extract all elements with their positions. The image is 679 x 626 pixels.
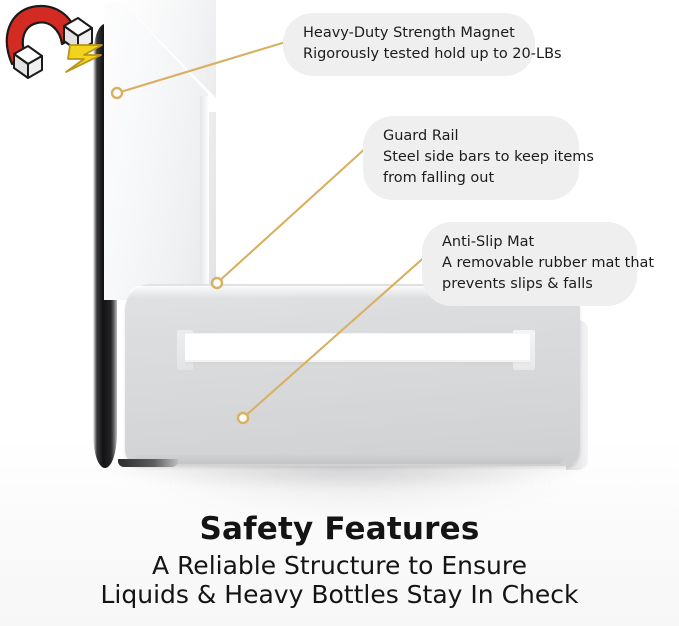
leader-dot-rail bbox=[212, 278, 222, 288]
callout-magnet-body: Rigorously tested hold up to 20-LBs bbox=[303, 44, 515, 65]
leader-dot-magnet bbox=[112, 88, 122, 98]
product-feature-infographic: Heavy-Duty Strength Magnet Rigorously te… bbox=[0, 0, 679, 626]
caption-subline-1: A Reliable Structure to Ensure bbox=[0, 551, 679, 580]
callout-rail-body-line2: from falling out bbox=[383, 168, 559, 189]
caption-block: Safety Features A Reliable Structure to … bbox=[0, 512, 679, 609]
callout-anti-slip-mat: Anti-Slip Mat A removable rubber mat tha… bbox=[422, 222, 637, 306]
callout-heavy-duty-magnet: Heavy-Duty Strength Magnet Rigorously te… bbox=[283, 13, 535, 76]
caption-subline-2: Liquids & Heavy Bottles Stay In Check bbox=[0, 580, 679, 609]
caption-headline: Safety Features bbox=[0, 512, 679, 547]
leader-line-magnet bbox=[117, 41, 289, 93]
callout-mat-body-line1: A removable rubber mat that bbox=[442, 253, 617, 274]
callout-guard-rail: Guard Rail Steel side bars to keep items… bbox=[363, 116, 579, 200]
callout-rail-body-line1: Steel side bars to keep items bbox=[383, 147, 559, 168]
leader-line-rail bbox=[217, 146, 368, 283]
callout-rail-title: Guard Rail bbox=[383, 126, 559, 147]
callout-mat-title: Anti-Slip Mat bbox=[442, 232, 617, 253]
callout-magnet-title: Heavy-Duty Strength Magnet bbox=[303, 23, 515, 44]
leader-dot-mat bbox=[238, 413, 248, 423]
leader-line-mat bbox=[243, 254, 428, 418]
callout-mat-body-line2: prevents slips & falls bbox=[442, 274, 617, 295]
